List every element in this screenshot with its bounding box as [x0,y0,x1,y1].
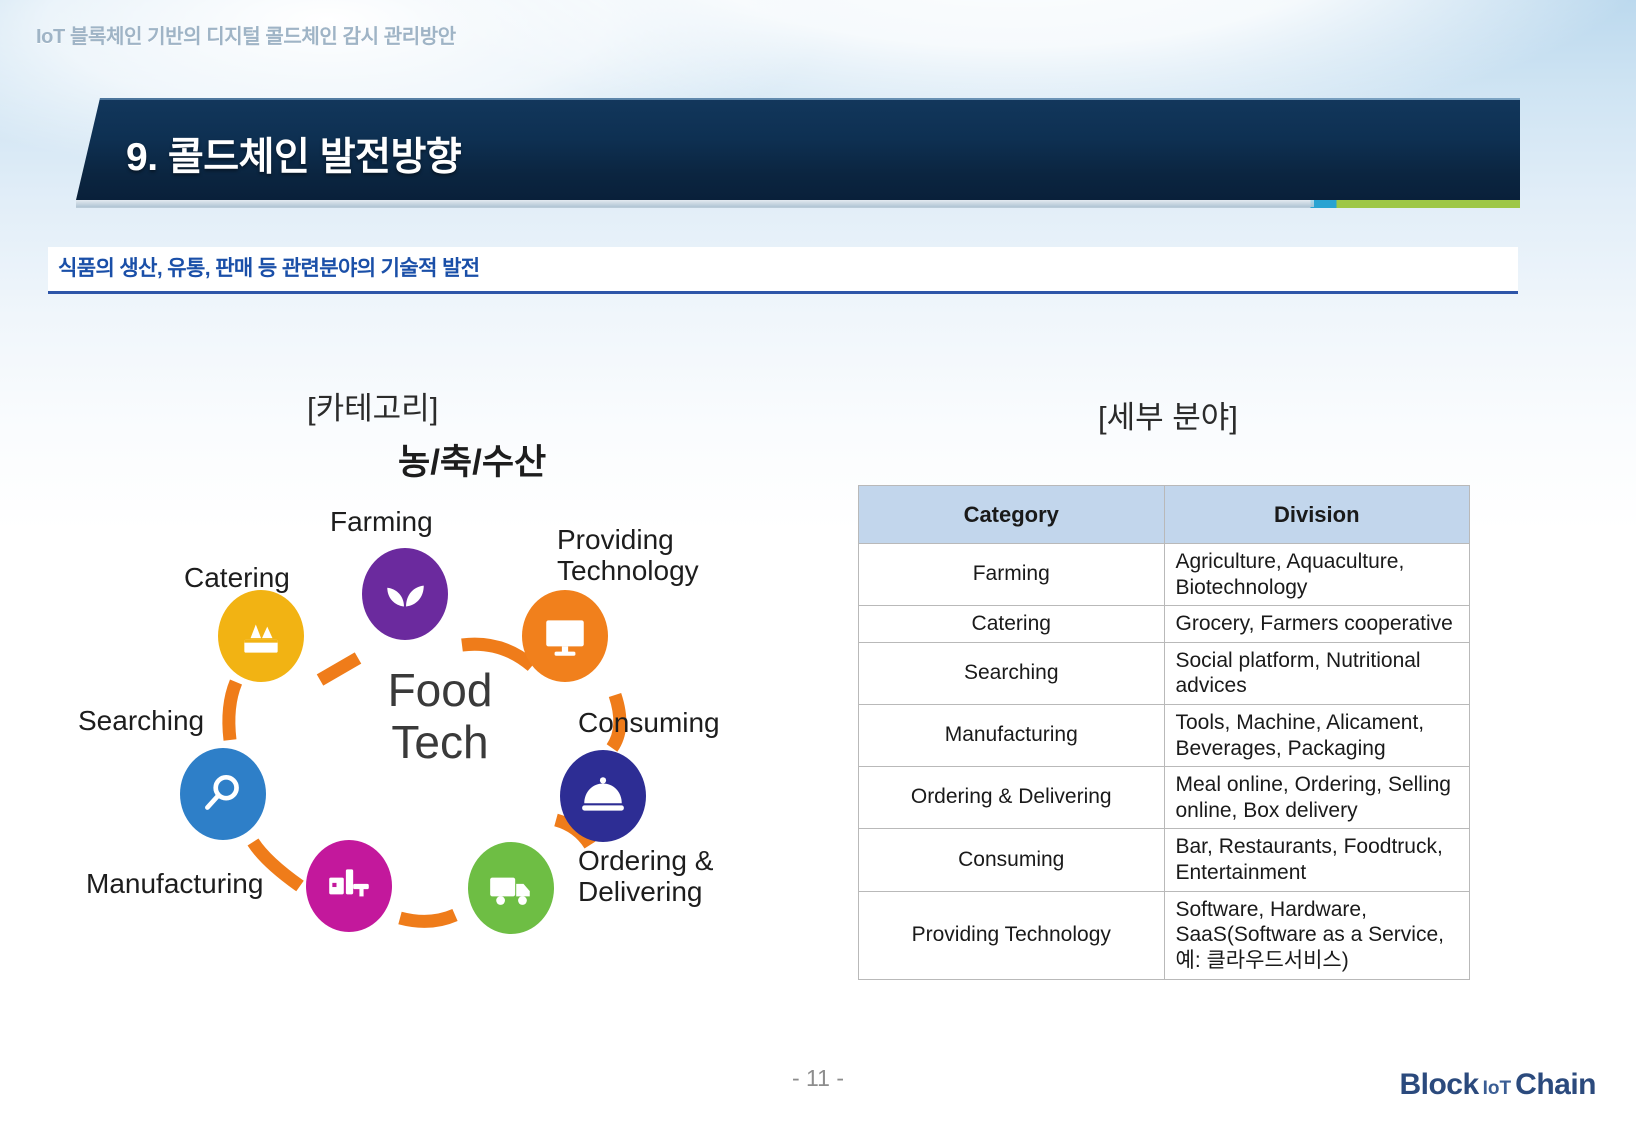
wheel-node-farming[interactable] [362,548,448,640]
page-title: 9. 콜드체인 발전방향 [126,126,461,182]
wheel-label-farming: Farming [330,506,433,537]
page-number: - 11 - [0,1065,1636,1092]
magnifier-icon [198,769,248,819]
table-body: Farming Agriculture, Aquaculture, Biotec… [859,544,1470,980]
wheel-node-ordering-delivering[interactable] [468,842,554,934]
foodtech-wheel: Food Tech Farming Providing Te [70,490,850,960]
cell-division: Bar, Restaurants, Foodtruck, Entertainme… [1164,829,1470,891]
wheel-label-manufacturing: Manufacturing [86,868,263,899]
table-row: Ordering & Delivering Meal online, Order… [859,767,1470,829]
wheel-center-line2: Tech [325,717,555,769]
wheel-node-manufacturing[interactable] [306,840,392,932]
groceries-icon [236,611,286,661]
wheel-label-providing-technology: Providing Technology [557,524,699,587]
cell-category: Catering [859,606,1165,643]
wheel-label-searching: Searching [78,705,204,736]
wheel-center-line1: Food [325,665,555,717]
wheel-node-consuming[interactable] [560,750,646,842]
cell-division: Grocery, Farmers cooperative [1164,606,1470,643]
division-table: Category Division Farming Agriculture, A… [858,485,1470,980]
slide-root: IoT 블록체인 기반의 디지털 콜드체인 감시 관리방안 9. 콜드체인 발전… [0,0,1636,1132]
wheel-label-consuming: Consuming [578,707,720,738]
cell-category: Searching [859,642,1165,704]
table-header-row: Category Division [859,486,1470,544]
title-banner-shadow-bar [76,200,1314,207]
table-header-category: Category [859,486,1165,544]
cell-division: Software, Hardware, SaaS(Software as a S… [1164,891,1470,979]
cell-category: Ordering & Delivering [859,767,1165,829]
cell-category: Providing Technology [859,891,1165,979]
wheel-node-catering[interactable] [218,590,304,682]
cell-division: Social platform, Nutritional advices [1164,642,1470,704]
logo-text-chain: Chain [1515,1068,1596,1102]
brand-logo: Block IoT Chain [1399,1068,1596,1102]
wheel-label-ordering-delivering: Ordering & Delivering [578,845,713,908]
table-row: Providing Technology Software, Hardware,… [859,891,1470,979]
cell-category: Manufacturing [859,705,1165,767]
logo-text-block: Block [1399,1068,1478,1102]
factory-icon [324,861,374,911]
cloche-icon [578,771,628,821]
cell-category: Farming [859,544,1165,606]
cell-division: Tools, Machine, Alicament, Beverages, Pa… [1164,705,1470,767]
monitor-icon [540,611,590,661]
division-caption: [세부 분야] [1098,392,1238,437]
table-row: Manufacturing Tools, Machine, Alicament,… [859,705,1470,767]
cell-division: Agriculture, Aquaculture, Biotechnology [1164,544,1470,606]
subtitle-rule [48,291,1518,294]
category-subcaption: 농/축/수산 [398,434,546,485]
wheel-center-label: Food Tech [325,665,555,768]
leaf-icon [380,569,430,619]
category-caption: [카테고리] [307,383,438,428]
cell-division: Meal online, Ordering, Selling online, B… [1164,767,1470,829]
table-header-division: Division [1164,486,1470,544]
table-row: Consuming Bar, Restaurants, Foodtruck, E… [859,829,1470,891]
wheel-node-providing-technology[interactable] [522,590,608,682]
wifi-iot-icon: IoT [1481,1078,1514,1100]
table-row: Searching Social platform, Nutritional a… [859,642,1470,704]
wheel-node-searching[interactable] [180,748,266,840]
cell-category: Consuming [859,829,1165,891]
truck-icon [486,863,536,913]
wheel-label-catering: Catering [184,562,290,593]
running-header: IoT 블록체인 기반의 디지털 콜드체인 감시 관리방안 [36,20,456,49]
table-row: Catering Grocery, Farmers cooperative [859,606,1470,643]
subtitle-text: 식품의 생산, 유통, 판매 등 관련분야의 기술적 발전 [58,252,480,282]
table-row: Farming Agriculture, Aquaculture, Biotec… [859,544,1470,606]
